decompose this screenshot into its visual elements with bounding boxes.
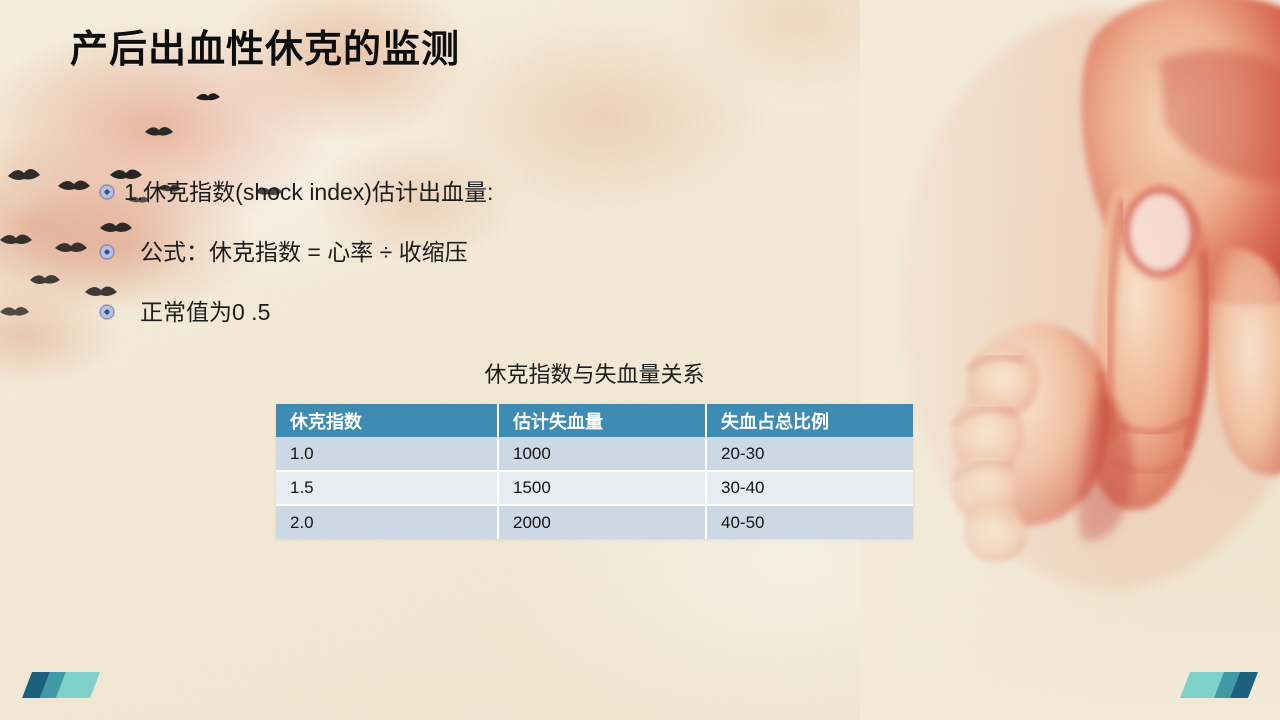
table-cell: 20-30 (706, 437, 913, 471)
target-bullet-icon (100, 305, 114, 319)
table-cell: 30-40 (706, 471, 913, 505)
target-bullet-icon (100, 245, 114, 259)
target-bullet-icon (100, 185, 114, 199)
table-cell: 2000 (498, 505, 706, 539)
table-header-cell: 失血占总比例 (706, 404, 913, 437)
page-title: 产后出血性休克的监测 (70, 18, 460, 73)
table-row: 2.0 2000 40-50 (276, 505, 913, 539)
table-header-row: 休克指数 估计失血量 失血占总比例 (276, 404, 913, 437)
list-item: 正常值为0 .5 (100, 296, 493, 328)
table-cell: 1.0 (276, 437, 498, 471)
shock-index-table: 休克指数 估计失血量 失血占总比例 1.0 1000 20-30 1.5 150… (276, 404, 913, 539)
table-caption: 休克指数与失血量关系 (276, 357, 913, 389)
bullet-text: 1.休克指数(shock index)估计出血量: (124, 181, 493, 204)
table-cell: 1500 (498, 471, 706, 505)
table-row: 1.0 1000 20-30 (276, 437, 913, 471)
list-item: 公式：休克指数 = 心率 ÷ 收缩压 (100, 236, 493, 268)
table-header-cell: 休克指数 (276, 404, 498, 437)
table-cell: 1.5 (276, 471, 498, 505)
table-cell: 40-50 (706, 505, 913, 539)
bullet-text: 公式：休克指数 = 心率 ÷ 收缩压 (140, 241, 468, 264)
list-item: 1.休克指数(shock index)估计出血量: (100, 176, 493, 208)
table-row: 1.5 1500 30-40 (276, 471, 913, 505)
table-cell: 1000 (498, 437, 706, 471)
bullet-list: 1.休克指数(shock index)估计出血量: 公式：休克指数 = 心率 ÷… (100, 176, 493, 356)
presentation-slide: 产后出血性休克的监测 1.休克指数(shock index)估计出血量: 公式：… (0, 0, 1280, 720)
bullet-text: 正常值为0 .5 (140, 301, 270, 324)
table-cell: 2.0 (276, 505, 498, 539)
table-header-cell: 估计失血量 (498, 404, 706, 437)
